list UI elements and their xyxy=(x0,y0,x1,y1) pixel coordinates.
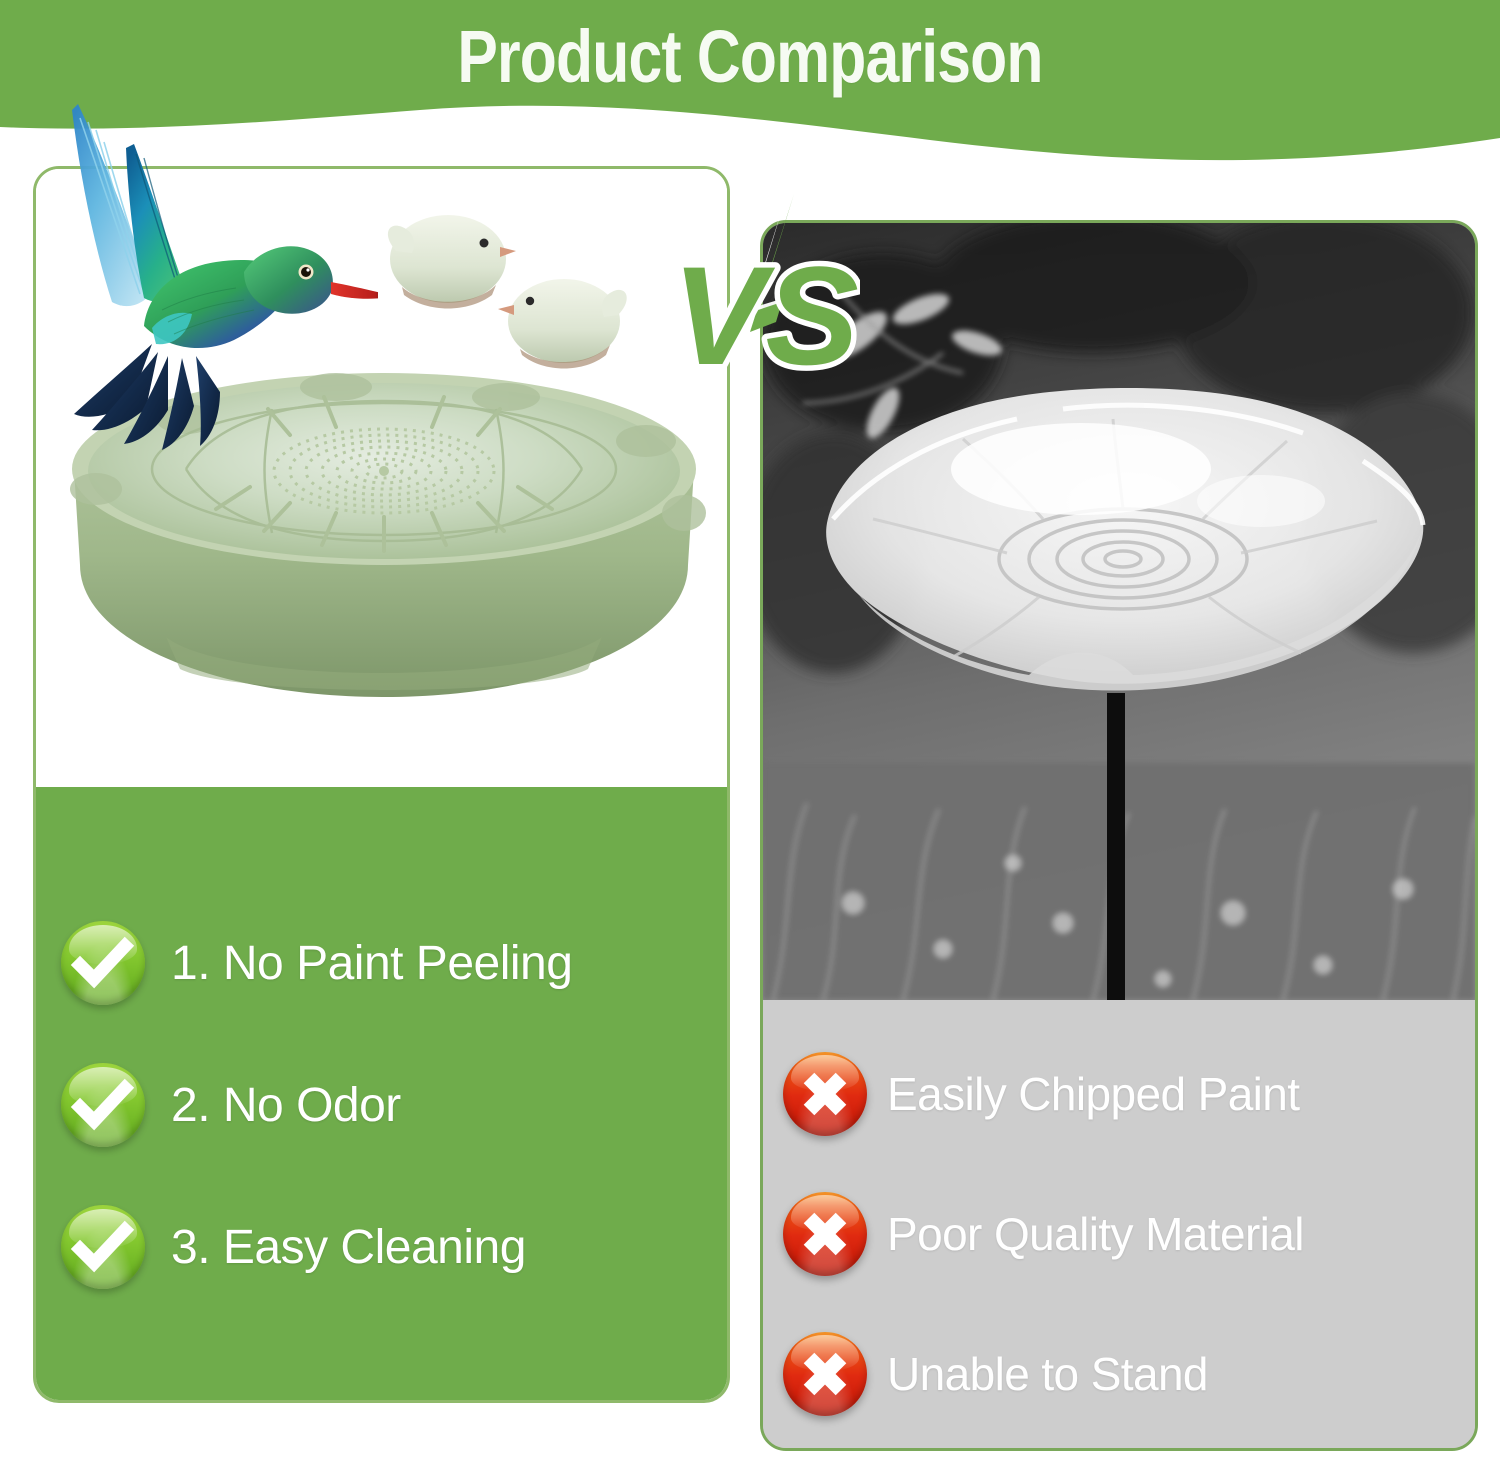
vs-text: VS VS xyxy=(672,237,859,394)
list-item: Unable to Stand xyxy=(783,1304,1473,1444)
pro-label: 3. Easy Cleaning xyxy=(171,1220,526,1275)
beak xyxy=(331,282,378,299)
hummingbird-illustration xyxy=(48,96,378,456)
pros-list: 1. No Paint Peeling 2. No Odor xyxy=(61,892,701,1318)
check-glyph xyxy=(61,921,145,1005)
page-title: Product Comparison xyxy=(135,14,1365,99)
x-glyph xyxy=(783,1192,867,1276)
list-item: 2. No Odor xyxy=(61,1034,701,1176)
list-item: Poor Quality Material xyxy=(783,1164,1473,1304)
list-item: Easily Chipped Paint xyxy=(783,1024,1473,1164)
pro-label: 1. No Paint Peeling xyxy=(171,936,572,991)
x-icon xyxy=(783,1052,867,1136)
metal-stake xyxy=(1107,693,1125,1000)
comparison-infographic: Product Comparison xyxy=(0,0,1500,1463)
x-icon xyxy=(783,1332,867,1416)
competitor-product-photo xyxy=(763,223,1475,1000)
check-icon xyxy=(61,1063,145,1147)
check-icon xyxy=(61,921,145,1005)
con-label: Easily Chipped Paint xyxy=(887,1067,1299,1121)
competitor-product-card: Easily Chipped Paint Poor Quality Materi… xyxy=(760,220,1478,1451)
vs-badge: VS VS xyxy=(660,188,860,448)
cons-panel: Easily Chipped Paint Poor Quality Materi… xyxy=(763,1000,1475,1448)
list-item: 3. Easy Cleaning xyxy=(61,1176,701,1318)
check-glyph xyxy=(61,1205,145,1289)
pros-panel: 1. No Paint Peeling 2. No Odor xyxy=(36,787,727,1400)
svg-text:VS: VS xyxy=(672,237,859,394)
list-item: 1. No Paint Peeling xyxy=(61,892,701,1034)
con-label: Unable to Stand xyxy=(887,1347,1208,1401)
x-glyph xyxy=(783,1332,867,1416)
con-label: Poor Quality Material xyxy=(887,1207,1304,1261)
x-glyph xyxy=(783,1052,867,1136)
check-icon xyxy=(61,1205,145,1289)
x-icon xyxy=(783,1192,867,1276)
glass-birdbath-illustration xyxy=(763,223,1475,1000)
cons-list: Easily Chipped Paint Poor Quality Materi… xyxy=(783,1024,1473,1444)
check-glyph xyxy=(61,1063,145,1147)
pro-label: 2. No Odor xyxy=(171,1078,401,1133)
tail xyxy=(74,344,220,450)
